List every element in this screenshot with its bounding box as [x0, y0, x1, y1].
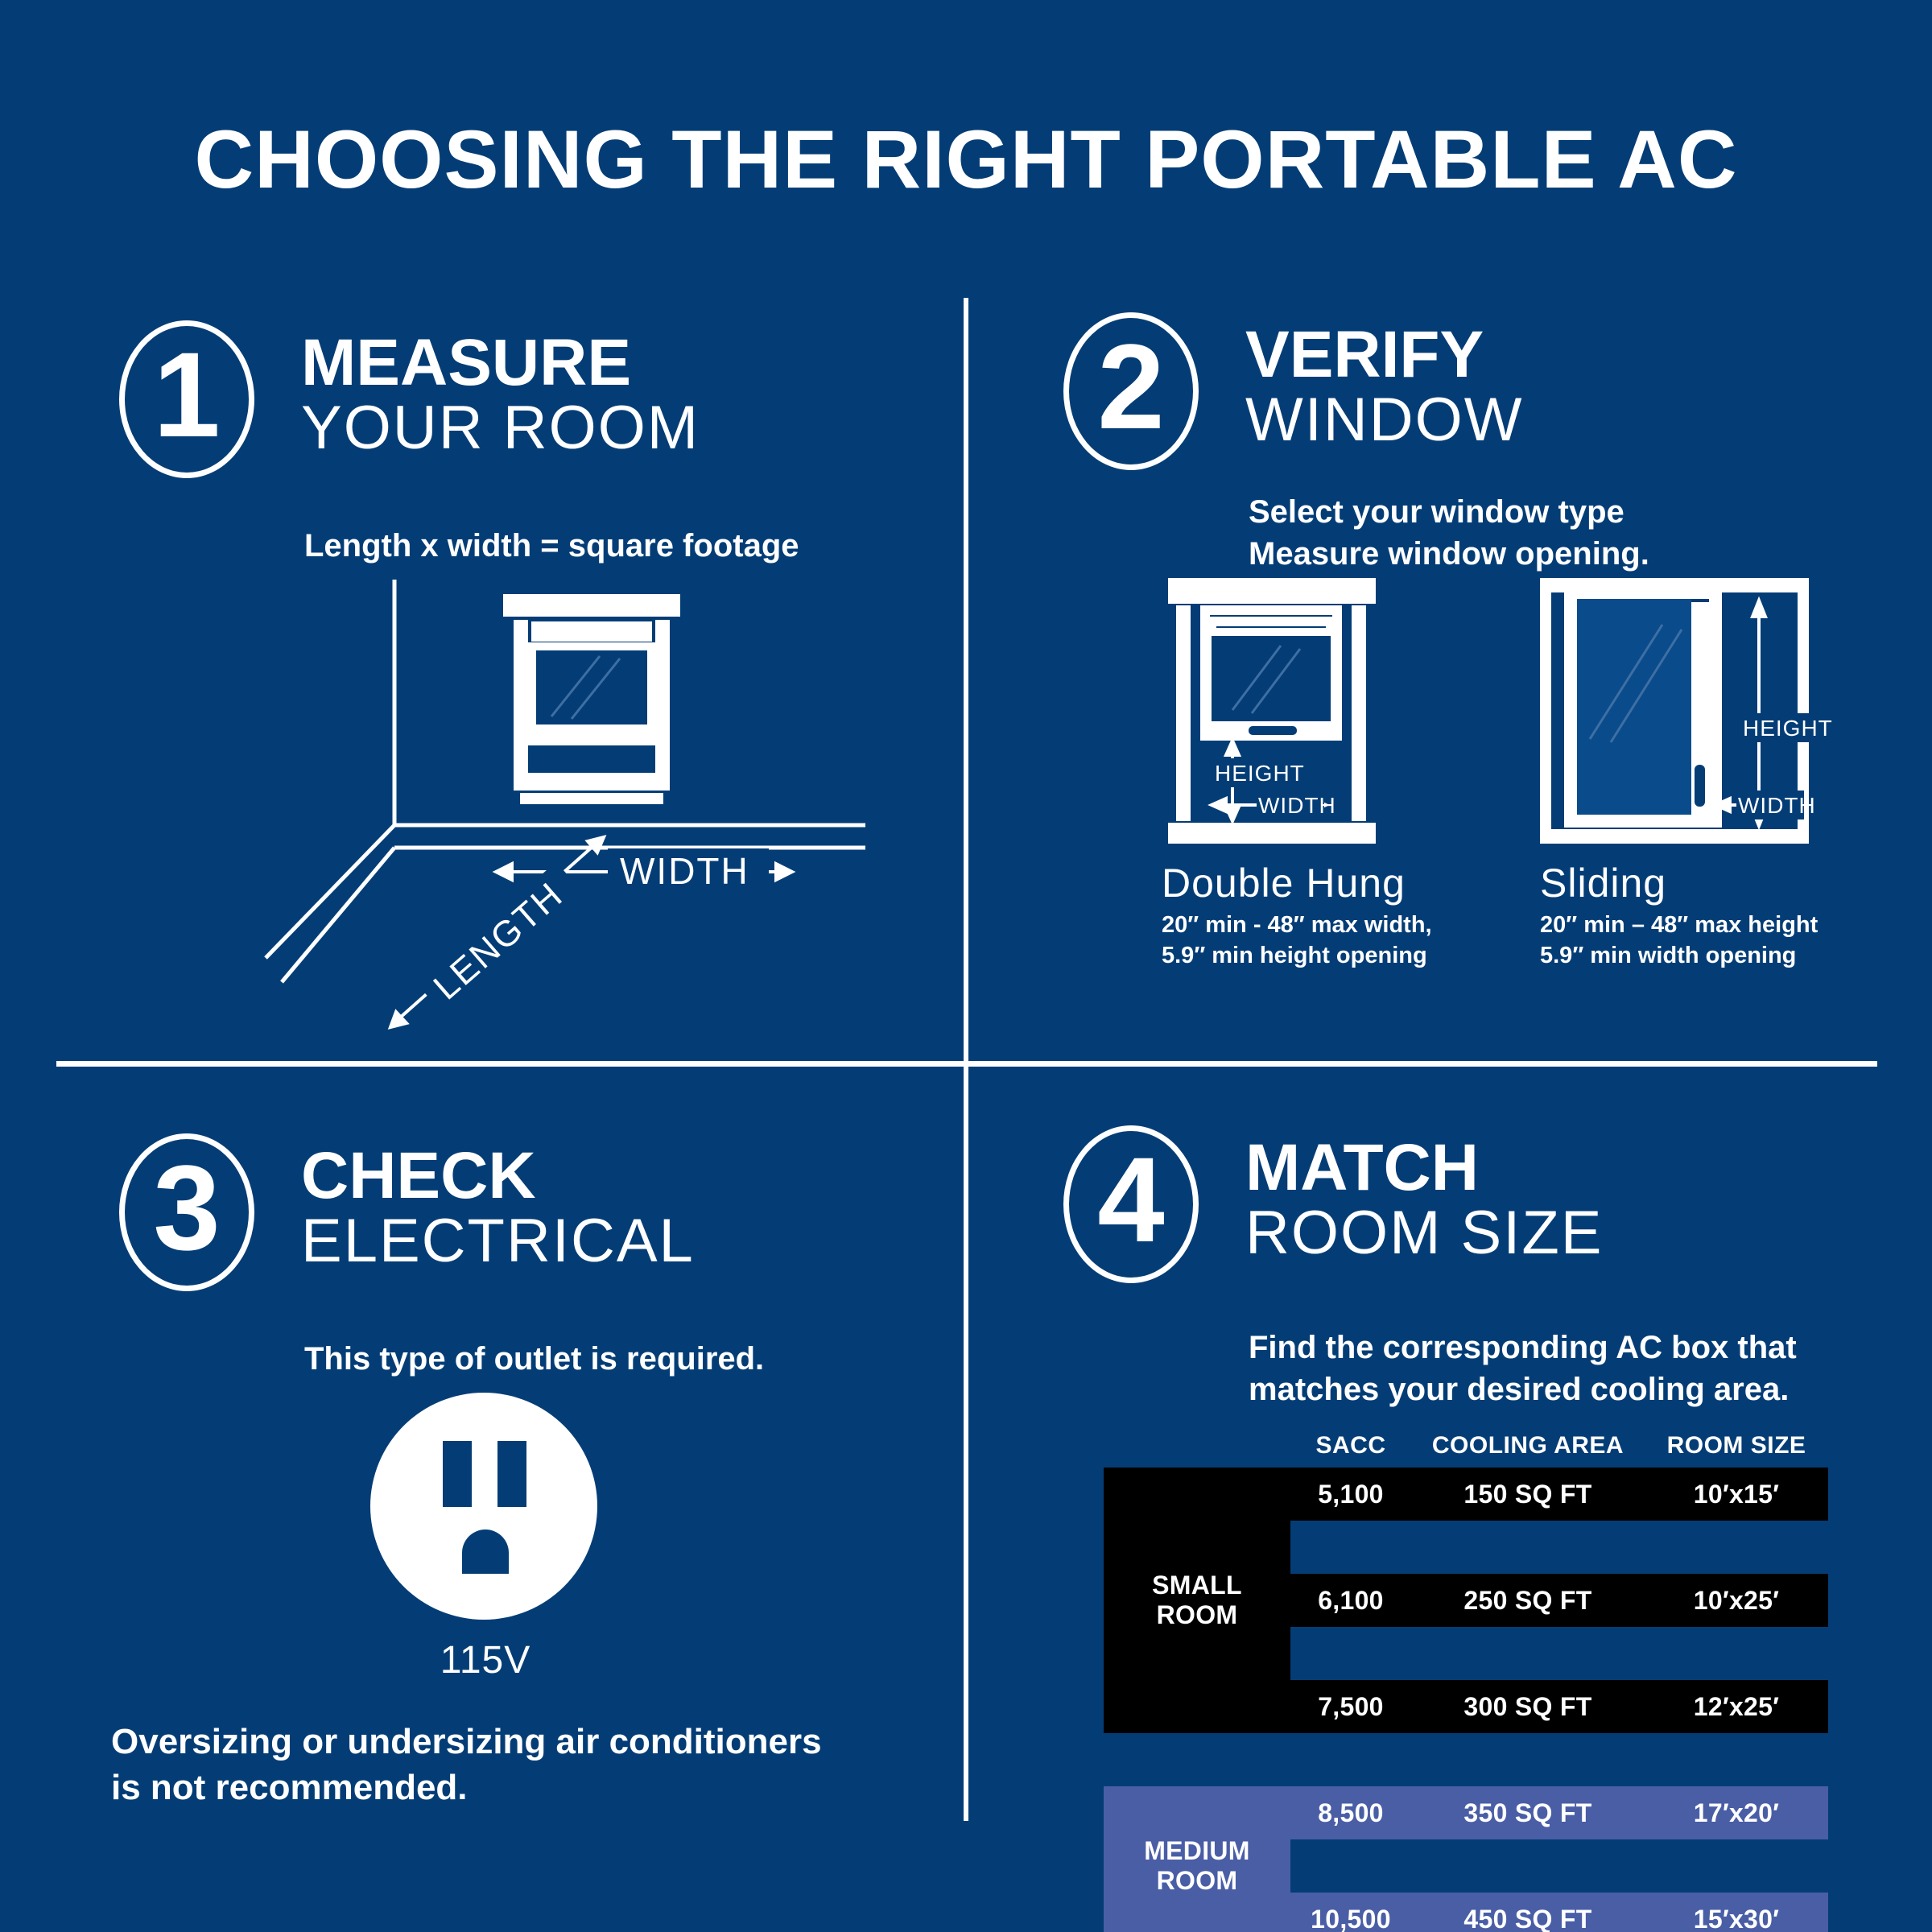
power-outlet-icon [353, 1393, 618, 1658]
infographic-page: CHOOSING THE RIGHT PORTABLE AC 1 MEASURE… [0, 0, 1932, 1932]
voltage-label: 115V [353, 1638, 618, 1682]
step-3-note-line-2: is not recommended. [111, 1765, 916, 1810]
cell-cooling-area: 250 SQ FT [1411, 1574, 1645, 1627]
sliding-spec-line-1: 20″ min – 48″ max height [1540, 910, 1909, 941]
step-number-badge-3: 3 [119, 1133, 254, 1291]
cell-room-size: 10′x25′ [1645, 1574, 1828, 1627]
table-body: SMALL ROOM 5,100 150 SQ FT 10′x15′ 6,100… [1104, 1468, 1828, 1932]
window-type-labels: Double Hung 20″ min - 48″ max width, 5.9… [1162, 861, 1918, 971]
separator-cell [1290, 1839, 1828, 1893]
step-4-subtitle-line-2: matches your desired cooling area. [1249, 1368, 1917, 1410]
cell-sacc: 10,500 [1290, 1893, 1411, 1932]
window-types-diagram: HEIGHT WIDTH [1162, 572, 1918, 849]
step-3-title-light: ELECTRICAL [301, 1208, 695, 1274]
step-1-heading: 1 MEASURE YOUR ROOM [119, 320, 700, 478]
step-number-1: 1 [153, 334, 220, 455]
double-hung-spec-line-2: 5.9″ min height opening [1162, 941, 1530, 972]
table-header: SACC COOLING AREA ROOM SIZE [1104, 1429, 1828, 1468]
row-group-label-small: SMALL ROOM [1104, 1468, 1290, 1733]
table-header-room-size: ROOM SIZE [1645, 1429, 1828, 1468]
step-4-subtitle-line-1: Find the corresponding AC box that [1249, 1327, 1917, 1368]
table-group-separator [1104, 1733, 1828, 1786]
small-room-label-line-2: ROOM [1157, 1600, 1238, 1629]
step-number-badge-2: 2 [1063, 312, 1199, 470]
sliding-window-illustration: HEIGHT WIDTH [1540, 578, 1833, 844]
medium-room-label-line-1: MEDIUM [1144, 1836, 1250, 1865]
separator-cell [1104, 1733, 1828, 1786]
cell-room-size: 12′x25′ [1645, 1680, 1828, 1733]
step-3-check-electrical: 3 CHECK ELECTRICAL This type of outlet i… [0, 1119, 964, 1932]
table-header-category [1104, 1429, 1290, 1468]
table-header-sacc: SACC [1290, 1429, 1411, 1468]
cell-sacc: 7,500 [1290, 1680, 1411, 1733]
sliding-name: Sliding [1540, 861, 1909, 906]
step-number-4: 4 [1097, 1139, 1164, 1260]
cell-cooling-area: 450 SQ FT [1411, 1893, 1645, 1932]
step-4-title-light: ROOM SIZE [1245, 1200, 1603, 1266]
separator-cell [1290, 1627, 1828, 1680]
step-4-title-bold: MATCH [1245, 1137, 1603, 1200]
step-2-verify-window: 2 VERIFY WINDOW Select your window type … [968, 306, 1932, 1061]
svg-text:WIDTH: WIDTH [1258, 793, 1336, 818]
cell-sacc: 5,100 [1290, 1468, 1411, 1521]
ac-sizing-table: SACC COOLING AREA ROOM SIZE SMALL ROOM 5… [1104, 1429, 1828, 1932]
svg-text:WIDTH: WIDTH [620, 850, 749, 892]
step-3-note-line-1: Oversizing or undersizing air conditione… [111, 1719, 916, 1765]
outlet-slot-left [443, 1441, 472, 1507]
step-3-subtitle: This type of outlet is required. [304, 1338, 948, 1380]
step-2-subtitle: Select your window type Measure window o… [1249, 491, 1909, 575]
step-1-measure-your-room: 1 MEASURE YOUR ROOM Length x width = squ… [0, 306, 964, 1061]
ac-sizing-table-wrapper: SACC COOLING AREA ROOM SIZE SMALL ROOM 5… [1104, 1429, 1909, 1932]
outlet-face [370, 1393, 597, 1620]
svg-text:LENGTH: LENGTH [426, 873, 571, 1007]
step-number-3: 3 [153, 1147, 220, 1268]
small-room-label-line-1: SMALL [1152, 1571, 1242, 1600]
step-number-badge-4: 4 [1063, 1125, 1199, 1283]
page-title: CHOOSING THE RIGHT PORTABLE AC [0, 113, 1932, 207]
cell-cooling-area: 300 SQ FT [1411, 1680, 1645, 1733]
sliding-spec-line-2: 5.9″ min width opening [1540, 941, 1909, 972]
cell-sacc: 6,100 [1290, 1574, 1411, 1627]
table-row: MEDIUM ROOM 8,500 350 SQ FT 17′x20′ [1104, 1786, 1828, 1839]
svg-text:HEIGHT: HEIGHT [1215, 761, 1305, 786]
step-2-title-bold: VERIFY [1245, 324, 1523, 387]
window-type-double-hung: Double Hung 20″ min - 48″ max width, 5.9… [1162, 861, 1540, 971]
outlet-slot-right [497, 1441, 526, 1507]
separator-cell [1290, 1521, 1828, 1574]
cell-room-size: 10′x15′ [1645, 1468, 1828, 1521]
step-2-subtitle-line-2: Measure window opening. [1249, 533, 1909, 575]
step-1-title-light: YOUR ROOM [301, 395, 700, 461]
step-4-subtitle: Find the corresponding AC box that match… [1249, 1327, 1917, 1410]
svg-text:HEIGHT: HEIGHT [1743, 716, 1833, 741]
double-hung-name: Double Hung [1162, 861, 1530, 906]
step-3-title-bold: CHECK [301, 1145, 695, 1208]
svg-text:WIDTH: WIDTH [1738, 793, 1816, 818]
table-row: SMALL ROOM 5,100 150 SQ FT 10′x15′ [1104, 1468, 1828, 1521]
step-2-title-light: WINDOW [1245, 387, 1523, 453]
step-1-subtitle: Length x width = square footage [304, 525, 948, 567]
step-1-title-bold: MEASURE [301, 332, 700, 395]
step-4-match-room-size: 4 MATCH ROOM SIZE Find the corresponding… [968, 1119, 1932, 1932]
double-hung-window-illustration: HEIGHT WIDTH [1168, 578, 1376, 844]
step-number-2: 2 [1097, 326, 1164, 447]
double-hung-spec-line-1: 20″ min - 48″ max width, [1162, 910, 1530, 941]
step-number-badge-1: 1 [119, 320, 254, 478]
cell-room-size: 15′x30′ [1645, 1893, 1828, 1932]
medium-room-label-line-2: ROOM [1157, 1866, 1238, 1895]
table-header-row: SACC COOLING AREA ROOM SIZE [1104, 1429, 1828, 1468]
cell-cooling-area: 150 SQ FT [1411, 1468, 1645, 1521]
window-type-sliding: Sliding 20″ min – 48″ max height 5.9″ mi… [1540, 861, 1918, 971]
outlet-ground-slot [462, 1529, 509, 1574]
cell-room-size: 17′x20′ [1645, 1786, 1828, 1839]
step-3-note: Oversizing or undersizing air conditione… [111, 1719, 916, 1810]
room-measurement-diagram: WIDTH LENGTH [266, 580, 877, 1055]
cell-sacc: 8,500 [1290, 1786, 1411, 1839]
step-2-heading: 2 VERIFY WINDOW [1063, 312, 1523, 470]
cell-cooling-area: 350 SQ FT [1411, 1786, 1645, 1839]
step-4-heading: 4 MATCH ROOM SIZE [1063, 1125, 1603, 1283]
row-group-label-medium: MEDIUM ROOM [1104, 1786, 1290, 1932]
step-3-heading: 3 CHECK ELECTRICAL [119, 1133, 695, 1291]
step-2-subtitle-line-1: Select your window type [1249, 491, 1909, 533]
table-header-cooling-area: COOLING AREA [1411, 1429, 1645, 1468]
